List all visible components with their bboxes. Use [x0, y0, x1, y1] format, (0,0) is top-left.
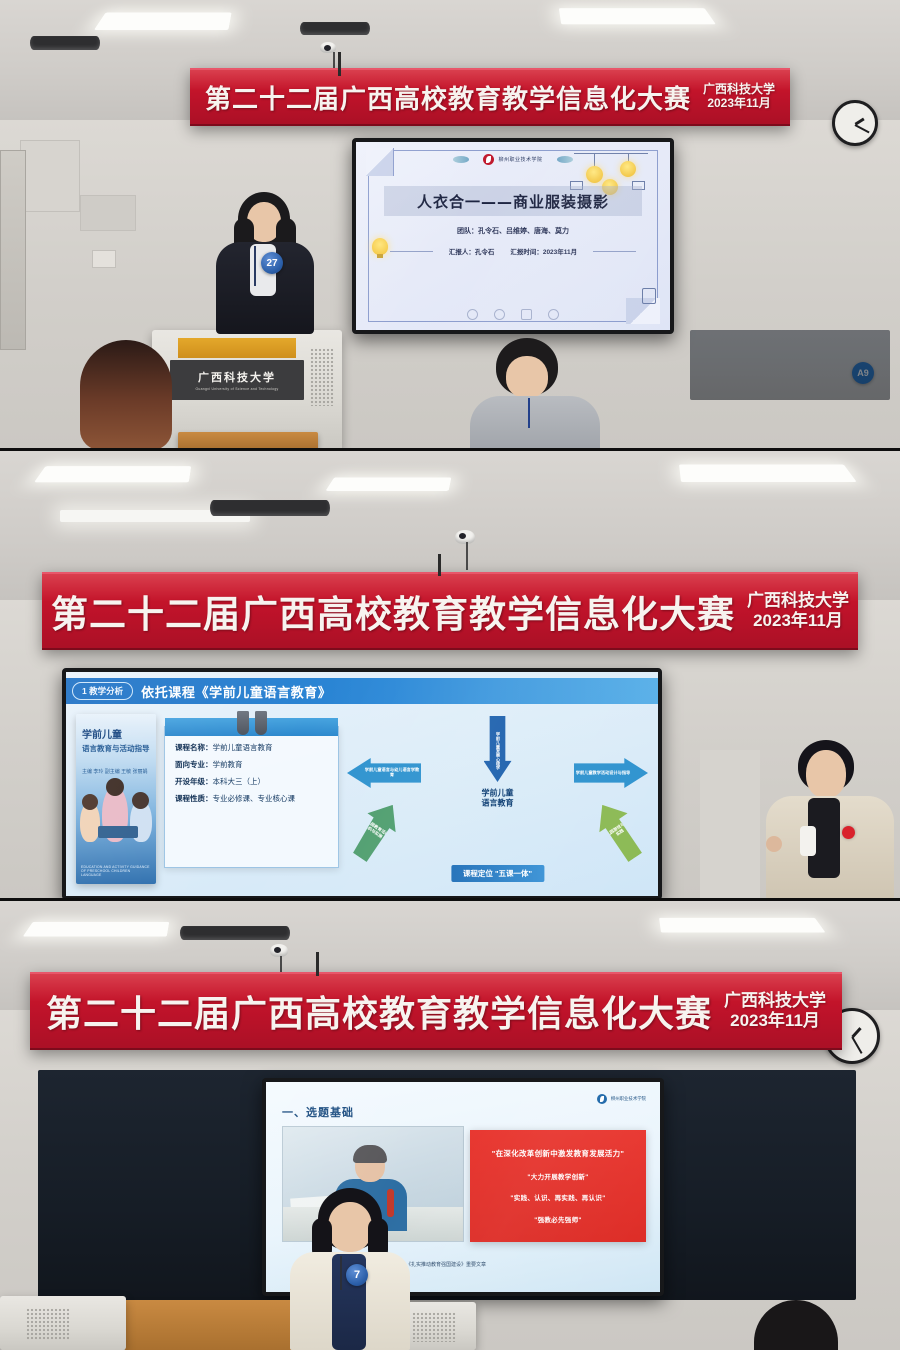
lectern-speaker — [310, 348, 334, 406]
presenter-head — [328, 1202, 372, 1252]
wall-switch — [92, 250, 116, 268]
collage-panel-1: 第二十二届广西高校教育教学信息化大赛 广西科技大学 2023年11月 — [0, 0, 900, 450]
lanyard — [528, 398, 530, 428]
course-info-card: 课程名称：学前儿童语言教育 面向专业：学前教育 开设年级：本科大三（上） 课程性… — [164, 726, 339, 868]
slide3-logo-text: 柳州职业技术学院 — [611, 1096, 646, 1102]
school-logo-icon — [483, 154, 494, 165]
course-info-value: 学前儿童语言教育 — [213, 743, 273, 752]
slide-report-time: 汇报时间：2023年11月 — [510, 246, 577, 256]
node-bulb-icon — [620, 161, 636, 177]
course-info-label: 开设年级： — [175, 777, 213, 786]
presenter-hand — [766, 836, 782, 852]
audience-hair — [754, 1300, 838, 1350]
banner-org-name: 广西科技大学 — [703, 83, 775, 97]
banner-org-date: 2023年11月 — [724, 1011, 826, 1031]
presenter-panel3: 7 — [288, 1188, 412, 1350]
slide-1: 柳州职业技术学院 人衣合 — [356, 142, 670, 330]
ceiling-light — [659, 918, 825, 933]
slide3-title: 一、选题基础 — [282, 1104, 354, 1120]
slide-title-bar: 人衣合一——商业服装摄影 — [384, 186, 642, 216]
banner-hook — [316, 952, 319, 976]
diagram-center-label: 学前儿童语言教育 — [482, 789, 514, 810]
diagram-arrow: 学前儿童发展心理学 — [484, 716, 512, 782]
panel-divider — [0, 448, 900, 451]
diagram-arrow: 学前儿童语言与幼儿语言学教育 — [347, 758, 421, 788]
presenter-panel1: 27 — [210, 192, 320, 342]
event-banner: 第二十二届广西高校教育教学信息化大赛 广西科技大学 2023年11月 — [190, 68, 790, 126]
audience-member — [470, 338, 600, 450]
slide3-quote-box: "在深化改革创新中激发教育发展活力" "大力开展教学创新" "实践、认识、再实践… — [470, 1130, 646, 1242]
audience-head — [506, 356, 548, 398]
diagram-footer-label: 课程定位 "五课一体" — [451, 865, 544, 882]
divider-line — [593, 251, 636, 252]
slide-title: 人衣合一——商业服装摄影 — [417, 191, 609, 212]
speaker-grill — [412, 1312, 456, 1342]
banner-hook — [438, 554, 441, 576]
side-board — [690, 330, 890, 400]
banner-org-name: 广西科技大学 — [747, 591, 849, 611]
slide3-logo: 柳州职业技术学院 — [597, 1094, 646, 1104]
photo-collage: 第二十二届广西高校教育教学信息化大赛 广西科技大学 2023年11月 — [0, 0, 900, 1350]
banner-org-name: 广西科技大学 — [724, 991, 826, 1011]
cable — [466, 542, 468, 570]
ceiling-light — [23, 922, 169, 937]
slide2-body: 学前儿童 语言教育与活动指导 主编 李玲 副主编 王敏 张丽娟 — [66, 706, 658, 892]
course-info-value: 本科大三（上） — [213, 777, 266, 786]
presenter-number-badge: 27 — [261, 252, 283, 274]
ceiling-camera-icon — [270, 944, 288, 957]
wall-box — [80, 195, 136, 231]
ceiling-vent — [180, 926, 290, 940]
ceiling-vent — [210, 500, 330, 516]
course-info-label: 面向专业： — [175, 760, 213, 769]
ceiling-light — [34, 466, 191, 482]
wall-clock — [832, 100, 878, 146]
slide2-section-tag: 1 教学分析 — [72, 682, 133, 700]
lanyard — [254, 246, 256, 286]
door — [0, 150, 26, 350]
lectern-name-en: Guangxi University of Science and Techno… — [195, 387, 278, 391]
banner-main-text: 第二十二届广西高校教育教学信息化大赛 — [46, 985, 712, 1037]
ceiling-light — [94, 13, 232, 30]
banner-main-text: 第二十二届广西高校教育教学信息化大赛 — [205, 79, 691, 116]
divider-line — [390, 251, 433, 252]
presenter-number-badge: 7 — [346, 1264, 368, 1286]
decor-corner-icon — [642, 288, 656, 304]
lanyard — [340, 1256, 342, 1290]
diagram-arrow: 幼儿园游戏与指导实践 — [588, 796, 651, 866]
slide3-quote-line: "实践、认识、再实践、再认识" — [510, 1192, 605, 1202]
slide3-quote-line: "大力开展教学创新" — [527, 1171, 588, 1181]
side-cabinet — [0, 1296, 126, 1350]
course-info-row: 课程名称：学前儿童语言教育 — [175, 743, 328, 753]
course-info-row: 面向专业：学前教育 — [175, 760, 328, 770]
banner-org-date: 2023年11月 — [747, 611, 849, 631]
audience-member — [740, 1300, 850, 1350]
textbook-footer-text: EDUCATION AND ACTIVITY GUIDANCE OF PRESC… — [81, 865, 151, 877]
lightbulb-icon — [372, 238, 388, 255]
course-info-label: 课程名称： — [175, 743, 213, 752]
banner-org-date: 2023年11月 — [703, 97, 775, 111]
slide-logo-text: 柳州职业技术学院 — [498, 156, 542, 163]
ceiling-vent — [300, 22, 370, 35]
textbook-subtitle: 语言教育与活动指导 — [82, 744, 152, 753]
textbook-cover: 学前儿童 语言教育与活动指导 主编 李玲 副主编 王敏 张丽娟 — [76, 714, 156, 884]
wall-cabinet — [20, 140, 80, 212]
decor-grid-icon — [521, 309, 532, 320]
wall-surface — [700, 750, 760, 900]
audience-hair — [80, 340, 172, 450]
slide-meta-row: 汇报人：孔令石 汇报时间：2023年11月 — [390, 246, 636, 256]
speaker-grill — [26, 1308, 70, 1340]
panel-divider — [0, 898, 900, 901]
audience-member — [62, 340, 190, 450]
course-info-label: 课程性质： — [175, 794, 213, 803]
presenter-head — [806, 750, 846, 798]
banner-hook — [338, 52, 341, 76]
slide-team-line: 团队：孔令石、吕维婷、唐海、莫力 — [356, 226, 670, 236]
ceiling-vent — [30, 36, 100, 50]
presentation-screen-2: 1 教学分析 依托课程《学前儿童语言教育》 学前儿童 语言教育与活动指导 主编 … — [62, 668, 662, 900]
decor-circle-icon — [467, 309, 478, 320]
slide-reporter: 汇报人：孔令石 — [449, 246, 495, 256]
decor-play-icon — [494, 309, 505, 320]
slide3-quote-line: "在深化改革创新中激发教育发展活力" — [492, 1148, 625, 1159]
course-info-row: 开设年级：本科大三（上） — [175, 777, 328, 787]
presenter-panel2 — [760, 740, 900, 900]
course-position-diagram: 学前儿童发展心理学 学前儿童语言与幼儿语言学教育 学前儿童教学活动设计与指导 幼… — [347, 714, 648, 884]
guest-ribbon — [842, 826, 855, 839]
lectern-name-cn: 广西科技大学 — [198, 369, 276, 385]
collage-panel-2: 第二十二届广西高校教育教学信息化大赛 广西科技大学 2023年11月 1 教学分… — [0, 450, 900, 900]
textbook-title: 学前儿童 — [82, 730, 152, 743]
ceiling-light — [326, 477, 452, 490]
diagram-arrow: 幼儿园教育活动组织与实施 — [345, 796, 408, 866]
school-logo-icon — [597, 1094, 607, 1104]
course-info-value: 学前教育 — [213, 760, 243, 769]
textbook-authors: 主编 李玲 副主编 王敏 张丽娟 — [82, 768, 152, 775]
course-info-row: 课程性质：专业必修课、专业核心课 — [175, 794, 328, 804]
microphone — [800, 826, 816, 856]
photo-person-hair — [353, 1145, 387, 1163]
decor-circle-icon — [548, 309, 559, 320]
textbook-illustration — [76, 776, 156, 844]
banner-main-text: 第二十二届广西高校教育教学信息化大赛 — [51, 584, 735, 638]
event-banner: 第二十二届广西高校教育教学信息化大赛 广西科技大学 2023年11月 — [30, 972, 842, 1050]
event-banner: 第二十二届广西高校教育教学信息化大赛 广西科技大学 2023年11月 — [42, 572, 858, 650]
slide2-header: 1 教学分析 依托课程《学前儿童语言教育》 — [66, 678, 658, 704]
slide2-heading: 依托课程《学前儿童语言教育》 — [141, 682, 331, 701]
diagram-arrow: 学前儿童教学活动设计与指导 — [574, 758, 648, 788]
course-info-value: 专业必修课、专业核心课 — [213, 794, 296, 803]
ceiling-light — [559, 8, 716, 24]
slide3-quote-line: "强教必先强师" — [534, 1214, 582, 1224]
audience-shirt — [470, 396, 600, 450]
paper-clip-icon — [237, 711, 267, 735]
ceiling-camera-icon — [455, 530, 475, 544]
presentation-screen-1: 柳州职业技术学院 人衣合 — [352, 138, 674, 334]
slide-icon-row — [356, 309, 670, 320]
slide-2: 1 教学分析 依托课程《学前儿童语言教育》 学前儿童 语言教育与活动指导 主编 … — [66, 672, 658, 896]
lectern-nameplate: 广西科技大学 Guangxi University of Science and… — [170, 360, 304, 400]
ceiling-light — [679, 465, 857, 482]
node-bulb-icon — [586, 166, 603, 183]
collage-panel-3: 第二十二届广西高校教育教学信息化大赛 广西科技大学 2023年11月 柳州职业技… — [0, 900, 900, 1350]
decor-swoosh-icon — [453, 156, 469, 163]
